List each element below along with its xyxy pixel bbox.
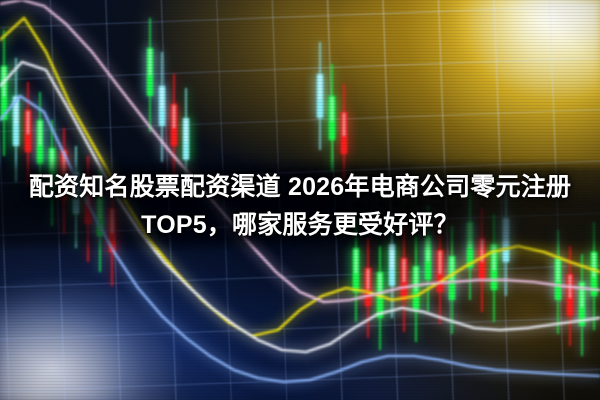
headline-block: 配资知名股票配资渠道 2026年电商公司零元注册 TOP5，哪家服务更受好评？ [0, 160, 600, 252]
headline-line-1: 配资知名股票配资渠道 2026年电商公司零元注册 [29, 170, 571, 204]
headline-line-2: TOP5，哪家服务更受好评？ [141, 208, 459, 242]
banner-image: 配资知名股票配资渠道 2026年电商公司零元注册 TOP5，哪家服务更受好评？ [0, 0, 600, 400]
